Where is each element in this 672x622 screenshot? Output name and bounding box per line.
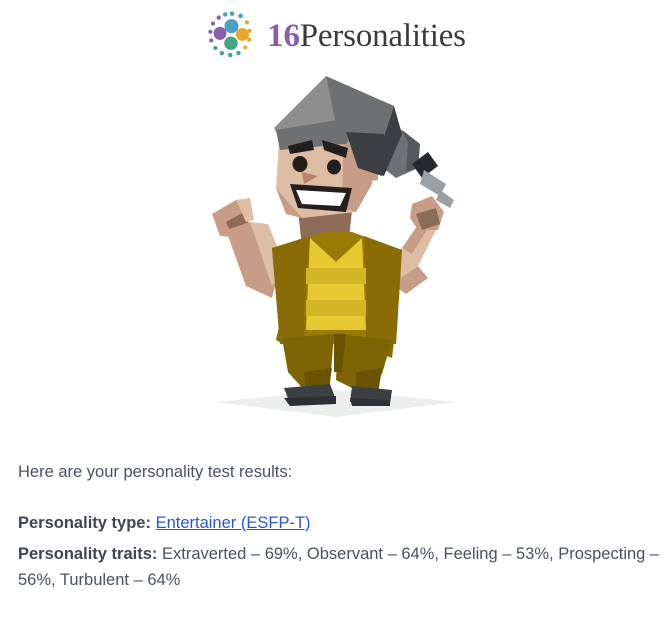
entertainer-esfp-character-illustration: [206, 72, 466, 432]
hero-illustration-area: [0, 72, 672, 442]
personality-traits-line: Personality traits: Extraverted – 69%, O…: [18, 542, 664, 593]
intro-text: Here are your personality test results:: [18, 462, 664, 483]
personality-traits-label: Personality traits:: [18, 545, 157, 563]
personality-type-label: Personality type:: [18, 514, 151, 532]
brand-logo[interactable]: 16Personalities: [206, 10, 466, 62]
brand-wordmark: 16Personalities: [267, 20, 466, 53]
brand-number: 16: [267, 18, 300, 54]
personality-type-line: Personality type: Entertainer (ESFP-T): [18, 511, 664, 537]
results-text-block: Here are your personality test results: …: [18, 462, 664, 593]
brand-word: Personalities: [300, 18, 466, 54]
personality-type-link[interactable]: Entertainer (ESFP-T): [156, 514, 311, 532]
sixteen-personalities-dot-circle-logo: [206, 10, 258, 62]
header-logo-band: 16Personalities: [0, 0, 672, 72]
